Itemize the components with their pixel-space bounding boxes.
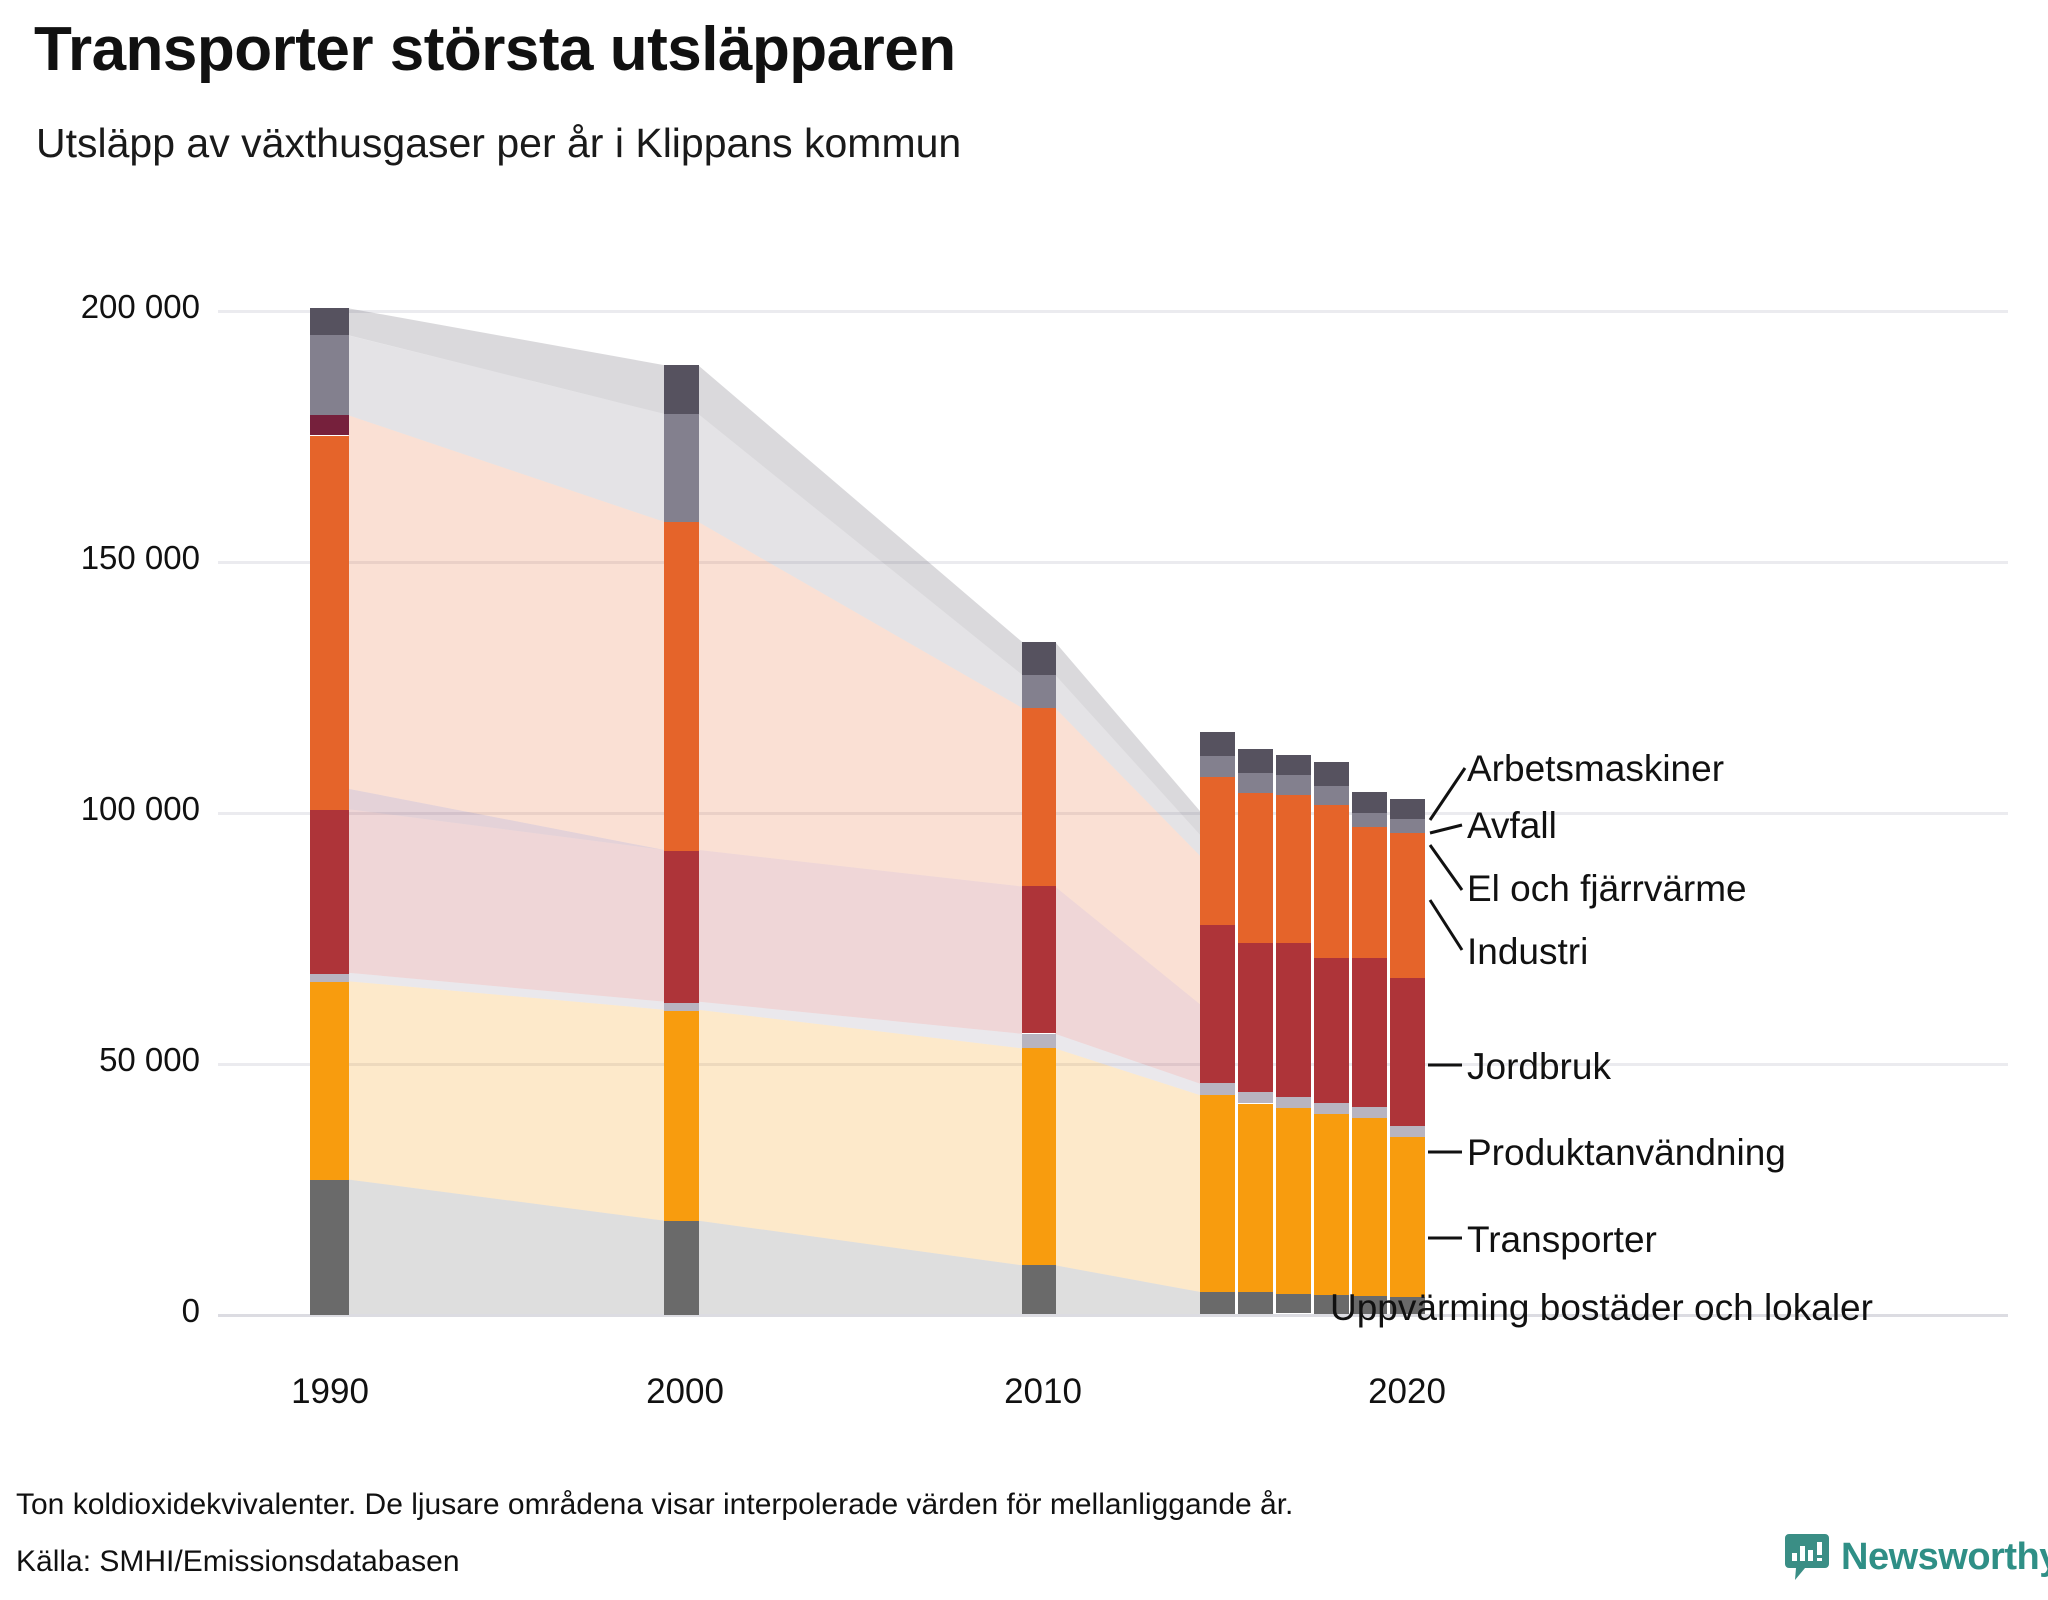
chart-note: Ton koldioxidekvivalenter. De ljusare om… [16, 1488, 1293, 1522]
legend-label-jordbruk: Jordbruk [1467, 1046, 1611, 1088]
newsworthy-wordmark: Newsworthy [1841, 1536, 2048, 1579]
legend-label-transporter: Transporter [1467, 1219, 1657, 1261]
legend-label-uppvarming-bostader-och-lokaler: Uppvärming bostäder och lokaler [1330, 1287, 1873, 1329]
chart-plot-area: 200 000 150 000 100 000 50 000 0 [0, 0, 2048, 1600]
legend-label-industri: Industri [1467, 931, 1588, 973]
chart-page: Transporter största utsläpparen Utsläpp … [0, 0, 2048, 1600]
newsworthy-logo[interactable]: Newsworthy [1785, 1534, 2048, 1581]
newsworthy-bars-icon [1785, 1534, 1829, 1581]
chart-source: Källa: SMHI/Emissionsdatabasen [16, 1545, 460, 1579]
legend-label-el-och-fjarrvarme: El och fjärrvärme [1467, 868, 1747, 910]
legend-label-produktanvandning: Produktanvändning [1467, 1132, 1786, 1174]
legend-leader-lines [0, 0, 2048, 1600]
legend-label-arbetsmaskiner: Arbetsmaskiner [1467, 748, 1724, 790]
legend-label-avfall: Avfall [1467, 805, 1557, 847]
